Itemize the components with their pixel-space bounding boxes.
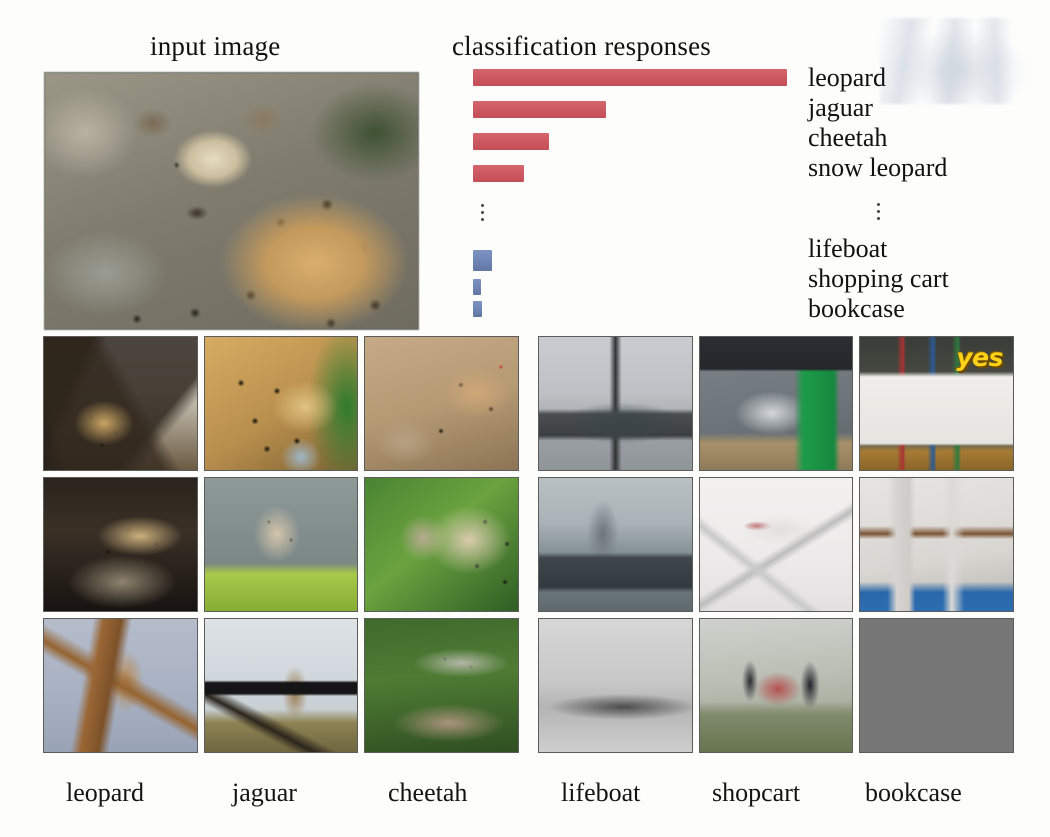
caption-jaguar: jaguar — [232, 778, 297, 808]
yes-badge: yes — [956, 343, 1003, 372]
caption-lifeboat: lifeboat — [561, 778, 640, 808]
thumbnail-bookcase-1: yes — [859, 336, 1014, 471]
thumbnail-lifeboat-1 — [538, 336, 693, 471]
thumbnail-cheetah-3 — [364, 618, 519, 753]
bars-ellipsis-icon — [481, 204, 484, 225]
response-label-leopard: leopard — [808, 63, 886, 93]
background-watermark — [880, 18, 1045, 104]
page-title-input-image: input image — [150, 31, 280, 62]
bar-leopard — [473, 69, 787, 86]
thumbnail-lifeboat-3 — [538, 618, 693, 753]
response-label-snow-leopard: snow leopard — [808, 153, 947, 183]
thumbnail-lifeboat-2 — [538, 477, 693, 612]
bar-bookcase — [473, 301, 482, 317]
caption-leopard: leopard — [66, 778, 144, 808]
response-label-jaguar: jaguar — [808, 93, 873, 123]
caption-cheetah: cheetah — [388, 778, 467, 808]
caption-shopcart: shopcart — [712, 778, 800, 808]
thumbnail-shopcart-3 — [699, 618, 854, 753]
caption-bookcase: bookcase — [865, 778, 962, 808]
thumbnail-cheetah-1 — [364, 336, 519, 471]
thumbnail-cheetah-2 — [364, 477, 519, 612]
thumbnail-jaguar-1 — [204, 336, 359, 471]
thumbnail-bookcase-3 — [859, 618, 1014, 753]
labels-ellipsis-icon — [877, 203, 880, 224]
thumbnail-bookcase-2 — [859, 477, 1014, 612]
response-label-lifeboat: lifeboat — [808, 234, 887, 264]
bar-snow-leopard — [473, 165, 524, 182]
thumbnail-leopard-2 — [43, 477, 198, 612]
response-label-bookcase: bookcase — [808, 294, 905, 324]
thumbnail-shopcart-2 — [699, 477, 854, 612]
thumbnail-shopcart-1 — [699, 336, 854, 471]
thumbnail-grid-animals — [43, 336, 519, 753]
bar-jaguar — [473, 101, 606, 118]
figure-root: input image classification responses leo… — [0, 0, 1050, 837]
thumbnail-grid-objects: yes — [538, 336, 1014, 753]
page-title-classification-responses: classification responses — [452, 31, 711, 62]
thumbnail-leopard-1 — [43, 336, 198, 471]
input-image-photo — [44, 72, 419, 330]
bar-cheetah — [473, 133, 549, 150]
response-label-cheetah: cheetah — [808, 123, 887, 153]
response-label-shopping-cart: shopping cart — [808, 264, 949, 294]
bar-lifeboat — [473, 250, 492, 271]
thumbnail-jaguar-3 — [204, 618, 359, 753]
thumbnail-leopard-3 — [43, 618, 198, 753]
thumbnail-jaguar-2 — [204, 477, 359, 612]
bar-shopping-cart — [473, 279, 481, 295]
